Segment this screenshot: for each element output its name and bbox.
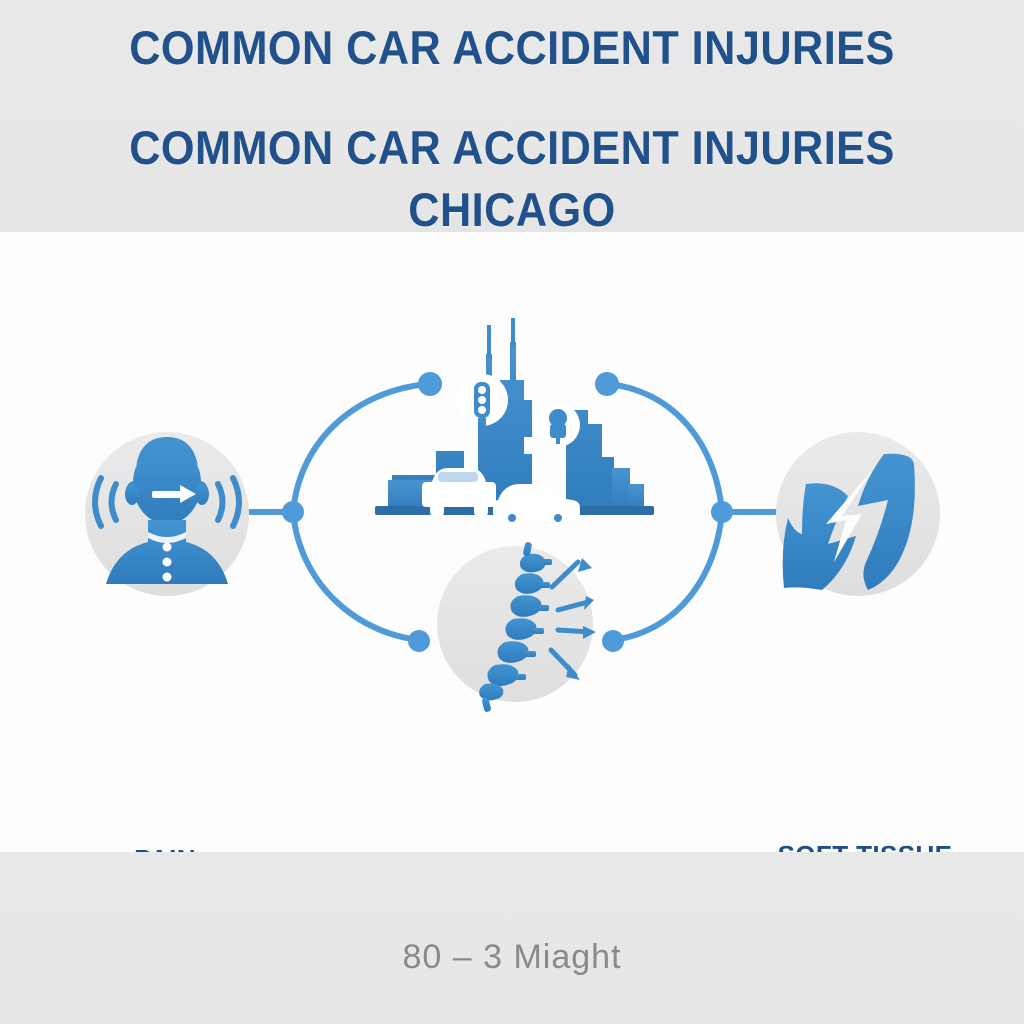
chicago-skyline-icon <box>375 318 654 526</box>
node-icon-back-strain[interactable] <box>437 542 596 713</box>
node-dot-right-hub <box>711 501 733 523</box>
page-title-secondary-line1: COMMON CAR ACCIDENT INJURIES <box>41 117 983 179</box>
header-band: COMMON CAR ACCIDENT INJURIES COMMON CAR … <box>0 0 1024 232</box>
page-title-primary: COMMON CAR ACCIDENT INJURIES <box>41 20 983 75</box>
node-dot-bottom-left <box>408 630 430 652</box>
diagram-stage: PAIN DIZZINESIS BACK STRAIN STIFFNESS SO… <box>0 232 1024 852</box>
traffic-light-icon <box>456 374 508 426</box>
willis-tower-antenna-right <box>511 318 515 348</box>
page-title-secondary: COMMON CAR ACCIDENT INJURIES CHICAGO <box>41 117 983 241</box>
connector-right-lower-curve <box>612 512 722 640</box>
node-dot-top-left <box>418 372 442 396</box>
willis-tower-antenna-left <box>487 325 491 357</box>
node-icon-pain[interactable] <box>85 432 249 596</box>
street-lamp-icon <box>536 403 580 447</box>
pain-head <box>133 444 201 524</box>
node-dot-top-right <box>595 372 619 396</box>
infographic-canvas: COMMON CAR ACCIDENT INJURIES COMMON CAR … <box>0 0 1024 1024</box>
node-dot-bottom-right <box>602 630 624 652</box>
node-icon-soft-tissue[interactable] <box>776 432 940 596</box>
footer-caption: 80 – 3 Miaght <box>0 938 1024 977</box>
node-dot-left-hub <box>282 501 304 523</box>
connector-left-lower-curve <box>293 512 420 640</box>
diagram-graphic <box>0 232 1024 852</box>
skyline-block-right-a <box>612 468 630 510</box>
footer-band: 80 – 3 Miaght <box>0 852 1024 1024</box>
